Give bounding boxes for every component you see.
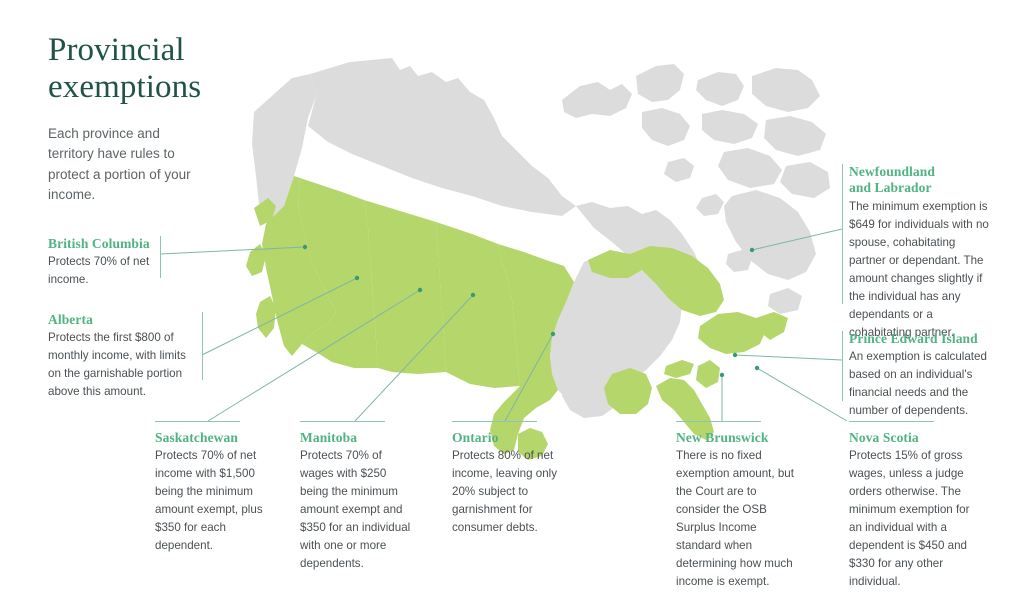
callout-ontario: Ontario Protects 80% of net income, leav… <box>452 430 562 537</box>
callout-nova-scotia: Nova Scotia Protects 15% of gross wages,… <box>849 430 984 591</box>
callout-rule-nova-scotia <box>849 421 934 422</box>
callout-body-saskatchewan: Protects 70% of net income with $1,500 b… <box>155 447 265 555</box>
callout-title-ontario: Ontario <box>452 430 562 446</box>
region-arctic-island-3 <box>642 108 690 146</box>
callout-rule-newfoundland-and-labrador <box>842 164 843 304</box>
callout-new-brunswick: New Brunswick There is no fixed exemptio… <box>676 430 801 591</box>
region-arctic-island-8 <box>718 148 782 188</box>
region-island-small-4 <box>768 288 802 314</box>
page-title-line1: Provincial <box>48 32 185 68</box>
callout-british-columbia: British Columbia Protects 70% of net inc… <box>48 236 156 289</box>
callout-body-newfoundland-and-labrador: The minimum exemption is $649 for indivi… <box>849 198 989 342</box>
region-island-small-2 <box>696 194 724 216</box>
region-arctic-island-5 <box>702 110 758 144</box>
callout-body-british-columbia: Protects 70% of net income. <box>48 253 156 289</box>
callout-manitoba: Manitoba Protects 70% of wages with $250… <box>300 430 412 573</box>
region-arctic-island-1 <box>562 82 632 118</box>
callout-rule-british-columbia <box>160 236 161 278</box>
callout-title-newfoundland-line1: Newfoundland <box>849 164 935 179</box>
canada-map <box>232 56 832 476</box>
callout-rule-manitoba <box>300 421 385 422</box>
callout-title-newfoundland-line2: and Labrador <box>849 180 932 195</box>
infographic-page: Provincialexemptions Each province and t… <box>0 0 1024 593</box>
callout-title-new-brunswick: New Brunswick <box>676 430 801 446</box>
region-island-small-1 <box>664 158 694 182</box>
callout-newfoundland-and-labrador: Newfoundlandand Labrador The minimum exe… <box>849 164 989 342</box>
page-subtitle: Each province and territory have rules t… <box>48 124 198 206</box>
map-green-regions <box>246 176 788 460</box>
callout-rule-prince-edward-island <box>842 331 843 401</box>
canada-map-svg <box>232 56 832 476</box>
callout-alberta: Alberta Protects the first $800 of month… <box>48 312 198 401</box>
region-arctic-island-7 <box>764 116 826 156</box>
callout-title-nova-scotia: Nova Scotia <box>849 430 984 446</box>
callout-body-new-brunswick: There is no fixed exemption amount, but … <box>676 447 801 591</box>
region-arctic-island-2 <box>636 64 684 102</box>
callout-body-alberta: Protects the first $800 of monthly incom… <box>48 329 198 401</box>
callout-title-british-columbia: British Columbia <box>48 236 156 252</box>
callout-saskatchewan: Saskatchewan Protects 70% of net income … <box>155 430 265 555</box>
callout-rule-ontario <box>452 421 537 422</box>
callout-body-manitoba: Protects 70% of wages with $250 being th… <box>300 447 412 573</box>
region-prince-edward-island <box>664 360 694 378</box>
callout-rule-saskatchewan <box>155 421 240 422</box>
callout-body-prince-edward-island: An exemption is calculated based on an i… <box>849 348 989 420</box>
callout-body-ontario: Protects 80% of net income, leaving only… <box>452 447 562 537</box>
region-arctic-island-6 <box>752 68 820 112</box>
region-cape-breton <box>696 360 720 388</box>
region-arctic-island-4 <box>696 72 744 106</box>
page-title-line2: exemptions <box>48 69 201 105</box>
region-newfoundland-island <box>698 312 766 354</box>
callout-title-alberta: Alberta <box>48 312 198 328</box>
callout-body-nova-scotia: Protects 15% of gross wages, unless a ju… <box>849 447 984 591</box>
callout-rule-new-brunswick <box>676 421 761 422</box>
callout-title-newfoundland-and-labrador: Newfoundlandand Labrador <box>849 164 989 197</box>
region-arctic-island-9 <box>780 162 830 198</box>
callout-title-prince-edward-island: Prince Edward Island <box>849 331 989 347</box>
callout-title-saskatchewan: Saskatchewan <box>155 430 265 446</box>
region-northwest-territories <box>308 58 576 216</box>
callout-prince-edward-island: Prince Edward Island An exemption is cal… <box>849 331 989 420</box>
region-bc-island-2 <box>256 296 276 338</box>
callout-rule-alberta <box>202 312 203 380</box>
callout-title-manitoba: Manitoba <box>300 430 412 446</box>
